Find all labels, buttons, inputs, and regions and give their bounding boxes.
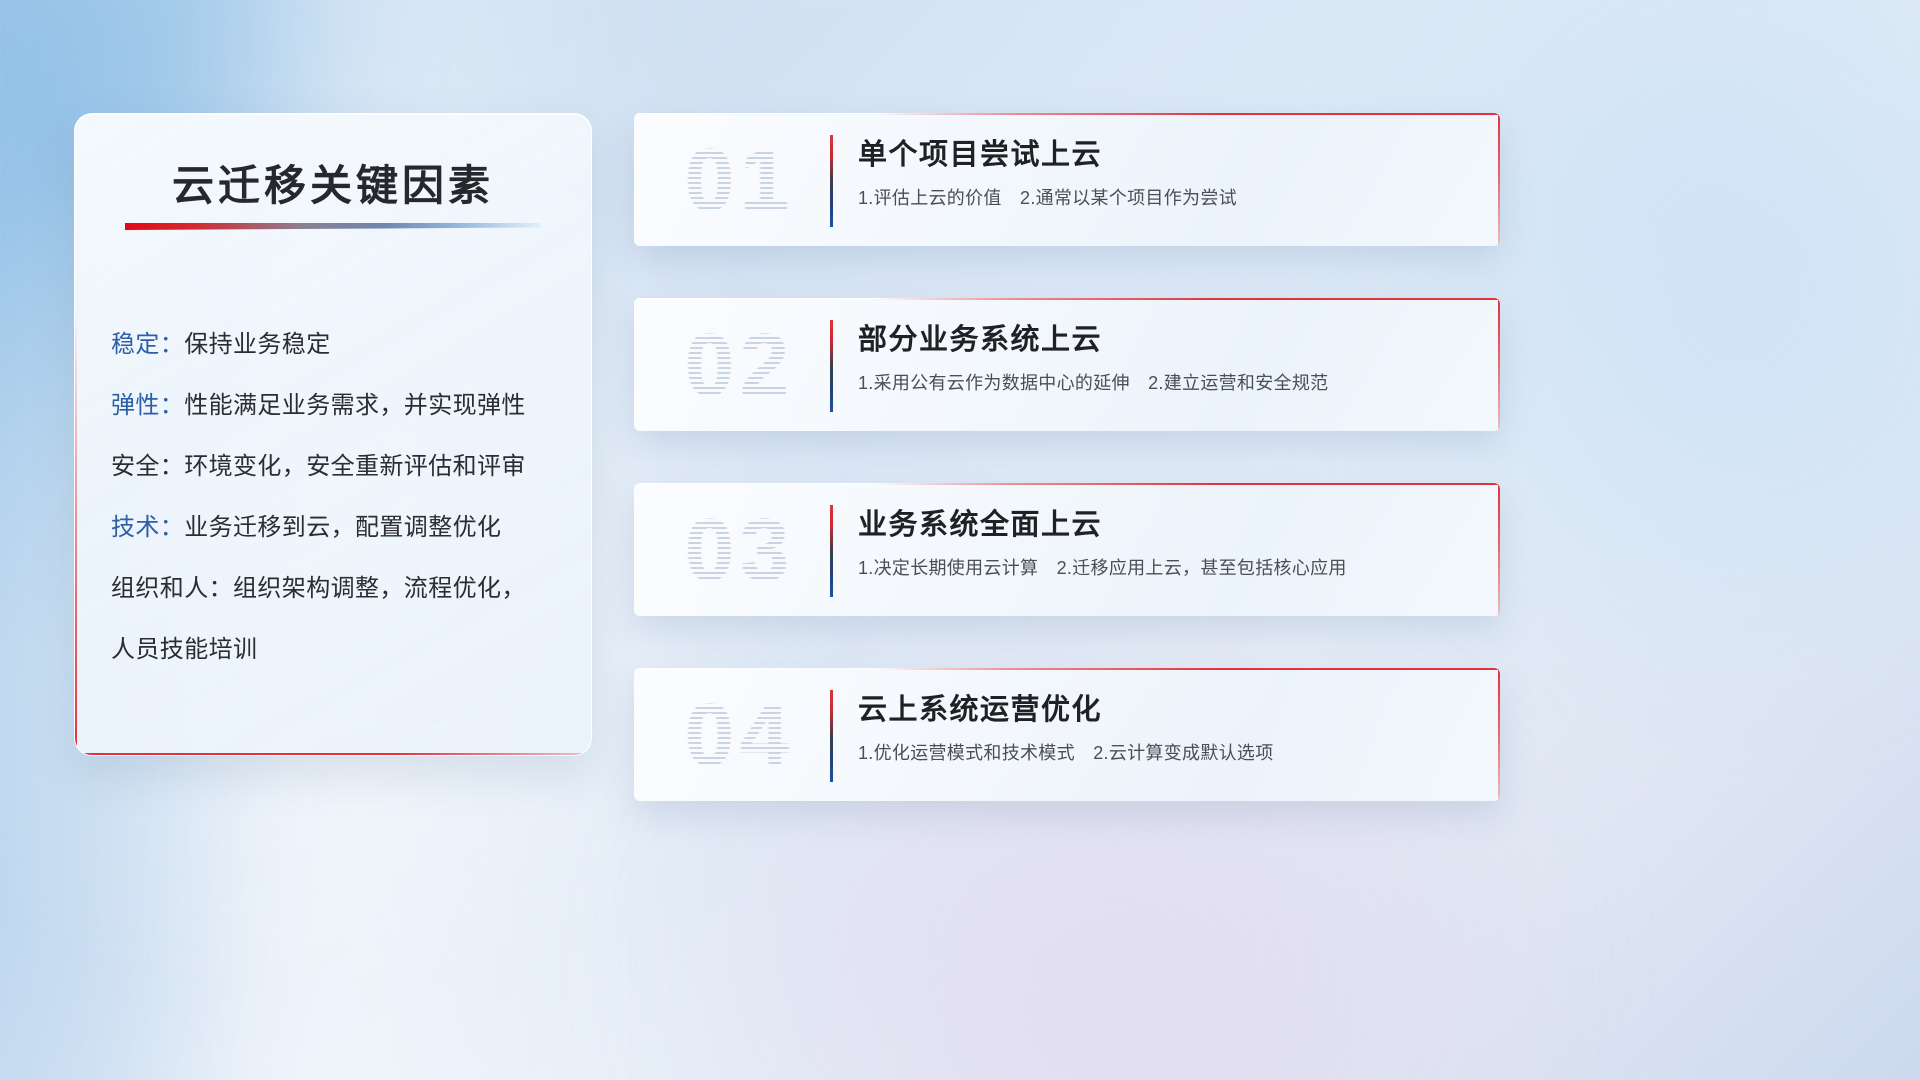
factor-label: 组织和人： xyxy=(111,575,233,602)
factor-row: 安全：环境变化，安全重新评估和评审 xyxy=(111,436,581,497)
step-description: 1.优化运营模式和技术模式 2.云计算变成默认选项 xyxy=(858,740,1476,766)
step-accent-bar xyxy=(830,320,833,412)
step-title: 云上系统运营优化 xyxy=(858,688,1476,732)
factor-value: 保持业务稳定 xyxy=(184,331,330,358)
migration-steps-list: 01单个项目尝试上云1.评估上云的价值 2.通常以某个项目作为尝试02部分业务系… xyxy=(634,113,1500,853)
step-content: 云上系统运营优化1.优化运营模式和技术模式 2.云计算变成默认选项 xyxy=(858,688,1476,766)
step-card[interactable]: 02部分业务系统上云1.采用公有云作为数据中心的延伸 2.建立运营和安全规范 xyxy=(634,298,1500,431)
factor-row: 组织和人：组织架构调整，流程优化， xyxy=(111,558,581,619)
factor-value: 人员技能培训 xyxy=(111,636,257,663)
step-accent-bar xyxy=(830,690,833,782)
key-factors-list: 稳定：保持业务稳定弹性：性能满足业务需求，并实现弹性安全：环境变化，安全重新评估… xyxy=(111,314,581,680)
factor-row: 技术：业务迁移到云，配置调整优化 xyxy=(111,497,581,558)
step-card[interactable]: 03业务系统全面上云1.决定长期使用云计算 2.迁移应用上云，甚至包括核心应用 xyxy=(634,483,1500,616)
step-content: 业务系统全面上云1.决定长期使用云计算 2.迁移应用上云，甚至包括核心应用 xyxy=(858,503,1476,581)
factor-row: 弹性：性能满足业务需求，并实现弹性 xyxy=(111,375,581,436)
step-number: 03 xyxy=(660,497,820,603)
step-title: 部分业务系统上云 xyxy=(858,318,1476,362)
step-accent-bar xyxy=(830,135,833,227)
factor-value: 性能满足业务需求，并实现弹性 xyxy=(184,392,526,419)
factor-value: 组织架构调整，流程优化， xyxy=(233,575,526,602)
title-underline-gradient xyxy=(125,223,541,230)
factor-label: 安全： xyxy=(111,453,184,480)
step-accent-bar xyxy=(830,505,833,597)
factor-value: 业务迁移到云，配置调整优化 xyxy=(184,514,501,541)
step-title: 单个项目尝试上云 xyxy=(858,133,1476,177)
step-number: 04 xyxy=(660,682,820,788)
step-number: 02 xyxy=(660,312,820,418)
factor-label: 弹性： xyxy=(111,392,184,419)
factor-row: 人员技能培训 xyxy=(111,619,581,680)
step-card[interactable]: 04云上系统运营优化1.优化运营模式和技术模式 2.云计算变成默认选项 xyxy=(634,668,1500,801)
step-content: 部分业务系统上云1.采用公有云作为数据中心的延伸 2.建立运营和安全规范 xyxy=(858,318,1476,396)
step-title: 业务系统全面上云 xyxy=(858,503,1476,547)
step-description: 1.采用公有云作为数据中心的延伸 2.建立运营和安全规范 xyxy=(858,370,1476,396)
factor-row: 稳定：保持业务稳定 xyxy=(111,314,581,375)
factor-label: 稳定： xyxy=(111,331,184,358)
step-description: 1.决定长期使用云计算 2.迁移应用上云，甚至包括核心应用 xyxy=(858,555,1476,581)
factor-label: 技术： xyxy=(111,514,184,541)
step-number: 01 xyxy=(660,127,820,233)
step-card[interactable]: 01单个项目尝试上云1.评估上云的价值 2.通常以某个项目作为尝试 xyxy=(634,113,1500,246)
step-description: 1.评估上云的价值 2.通常以某个项目作为尝试 xyxy=(858,185,1476,211)
factor-value: 环境变化，安全重新评估和评审 xyxy=(184,453,526,480)
key-factors-card: 云迁移关键因素 稳定：保持业务稳定弹性：性能满足业务需求，并实现弹性安全：环境变… xyxy=(74,113,592,756)
step-content: 单个项目尝试上云1.评估上云的价值 2.通常以某个项目作为尝试 xyxy=(858,133,1476,211)
page-title: 云迁移关键因素 xyxy=(172,152,494,213)
